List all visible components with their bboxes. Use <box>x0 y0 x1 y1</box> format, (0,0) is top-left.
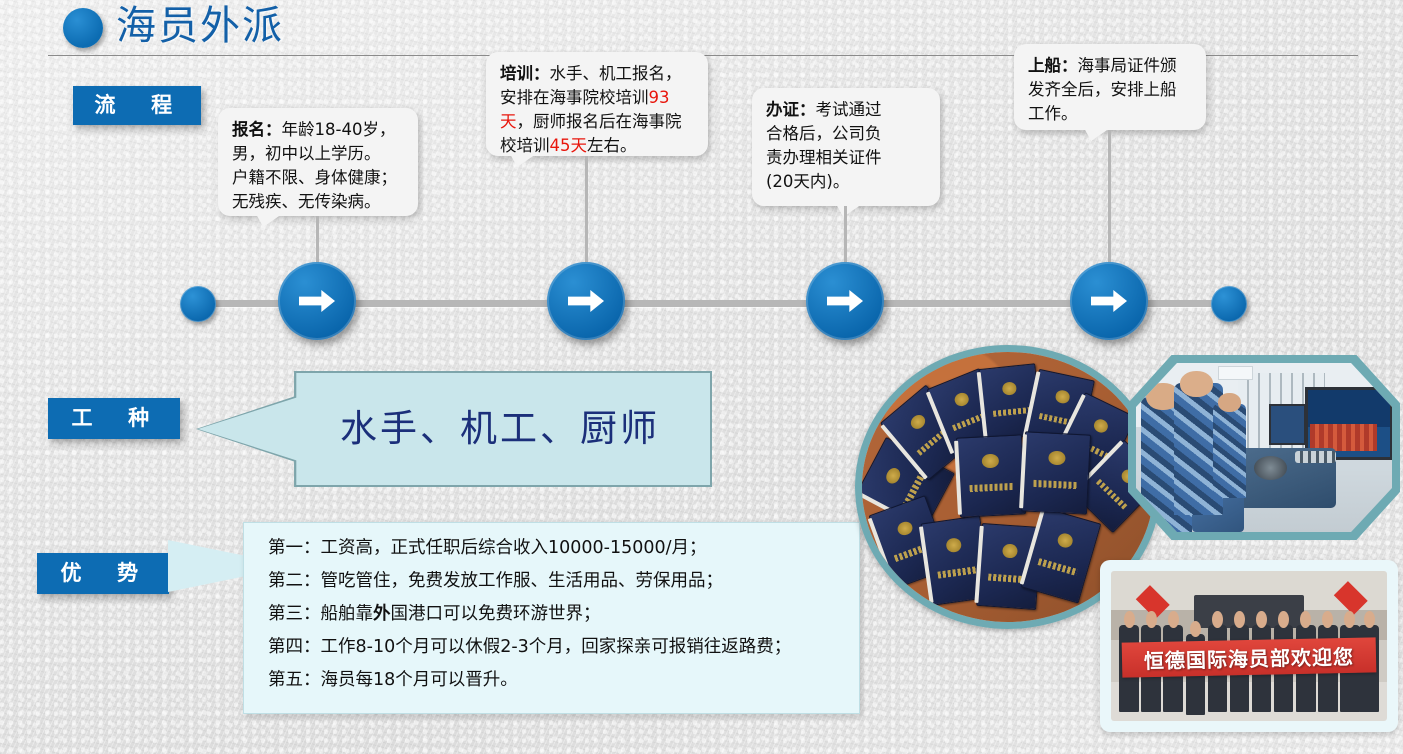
process-card-training: 培训：水手、机工报名， 安排在海事院校培训93 天，厨师报名后在海事院 校培训4… <box>486 52 708 156</box>
process-card-training-line2: 安排在海事院校培训93 <box>500 88 670 107</box>
process-card-signup-line1: 年龄18-40岁， <box>282 120 396 139</box>
process-timeline <box>0 262 1403 348</box>
connector-stem-1 <box>316 216 319 268</box>
timeline-node-certificate[interactable] <box>806 262 884 340</box>
process-card-training-line1: 水手、机工报名， <box>550 64 682 83</box>
process-card-certificate-title: 办证： <box>766 100 816 119</box>
group-welcome-banner: 恒德国际海员部欢迎您 <box>1122 637 1377 677</box>
section-label-advantage: 优 势 <box>37 553 169 594</box>
process-card-boarding-line2: 发齐全后，安排上船 <box>1028 80 1177 99</box>
process-card-training-title: 培训： <box>500 64 550 83</box>
connector-stem-2 <box>585 156 588 268</box>
process-card-boarding-line1: 海事局证件颁 <box>1078 56 1177 75</box>
photo-group-welcome: 恒德国际海员部欢迎您 <box>1100 560 1398 732</box>
process-card-certificate-line2: 合格后，公司负 <box>766 124 882 143</box>
process-card-boarding-title: 上船： <box>1028 56 1078 75</box>
advantage-line-1: 第一：工资高，正式任职后综合收入10000-15000/月； <box>268 532 859 565</box>
advantage-emphasis-foreign: 外 <box>373 604 391 624</box>
connector-stem-4 <box>1108 130 1111 268</box>
training-days-45: 45天 <box>550 136 588 155</box>
page-title: 海员外派 <box>116 0 284 52</box>
process-card-certificate-line4: (20天内)。 <box>766 172 849 191</box>
timeline-node-training[interactable] <box>547 262 625 340</box>
process-card-boarding: 上船：海事局证件颁 发齐全后，安排上船 工作。 <box>1014 44 1206 130</box>
process-card-signup-line2: 男，初中以上学历。 <box>232 144 381 163</box>
right-arrow-icon <box>568 290 604 312</box>
connector-stem-3 <box>844 206 847 268</box>
process-card-certificate-line3: 责办理相关证件 <box>766 148 882 167</box>
right-arrow-icon <box>299 290 335 312</box>
process-card-training-line3: 天，厨师报名后在海事院 <box>500 112 682 131</box>
process-card-training-line4: 校培训45天左右。 <box>500 136 637 155</box>
process-card-certificate-line1: 考试通过 <box>816 100 882 119</box>
training-days-93-unit: 天 <box>500 112 517 131</box>
photo-simulator-training <box>1128 355 1400 540</box>
training-days-93: 93 <box>649 88 670 107</box>
advantage-line-4: 第四：工作8-10个月可以休假2-3个月，回家探亲可报销往返路费； <box>268 631 859 664</box>
advantage-line-5: 第五：海员每18个月可以晋升。 <box>268 664 859 697</box>
timeline-segment-5 <box>1144 300 1216 307</box>
timeline-endpoint-end <box>1211 286 1247 322</box>
timeline-segment-1 <box>214 300 286 307</box>
advantage-line-2: 第二：管吃管住，免费发放工作服、生活用品、劳保用品； <box>268 565 859 598</box>
group-welcome-banner-text: 恒德国际海员部欢迎您 <box>1144 641 1355 674</box>
process-card-signup-title: 报名： <box>232 120 282 139</box>
photo-simulator-training-image <box>1136 363 1392 532</box>
bullet-circle-icon <box>63 8 103 48</box>
process-card-certificate: 办证：考试通过 合格后，公司负 责办理相关证件 (20天内)。 <box>752 88 940 206</box>
timeline-segment-3 <box>620 300 818 307</box>
process-card-signup-line4: 无残疾、无传染病。 <box>232 192 381 211</box>
advantage-line-3: 第三：船舶靠外国港口可以免费环游世界； <box>268 598 859 631</box>
section-label-job-type: 工 种 <box>48 398 180 439</box>
process-card-boarding-line3: 工作。 <box>1028 104 1078 123</box>
section-label-process: 流 程 <box>73 86 201 125</box>
timeline-node-signup[interactable] <box>278 262 356 340</box>
process-card-signup-line3: 户籍不限、身体健康； <box>232 168 397 187</box>
advantages-panel: 第一：工资高，正式任职后综合收入10000-15000/月； 第二：管吃管住，免… <box>243 522 860 714</box>
process-card-signup: 报名：年龄18-40岁， 男，初中以上学历。 户籍不限、身体健康； 无残疾、无传… <box>218 108 418 216</box>
right-arrow-icon <box>1091 290 1127 312</box>
fu-decoration-right-icon <box>1334 581 1367 614</box>
timeline-node-boarding[interactable] <box>1070 262 1148 340</box>
timeline-endpoint-start <box>180 286 216 322</box>
timeline-segment-2 <box>352 300 558 307</box>
job-type-value: 水手、机工、厨师 <box>300 398 700 460</box>
photo-group-welcome-image: 恒德国际海员部欢迎您 <box>1111 571 1387 721</box>
right-arrow-icon <box>827 290 863 312</box>
timeline-segment-4 <box>880 300 1080 307</box>
